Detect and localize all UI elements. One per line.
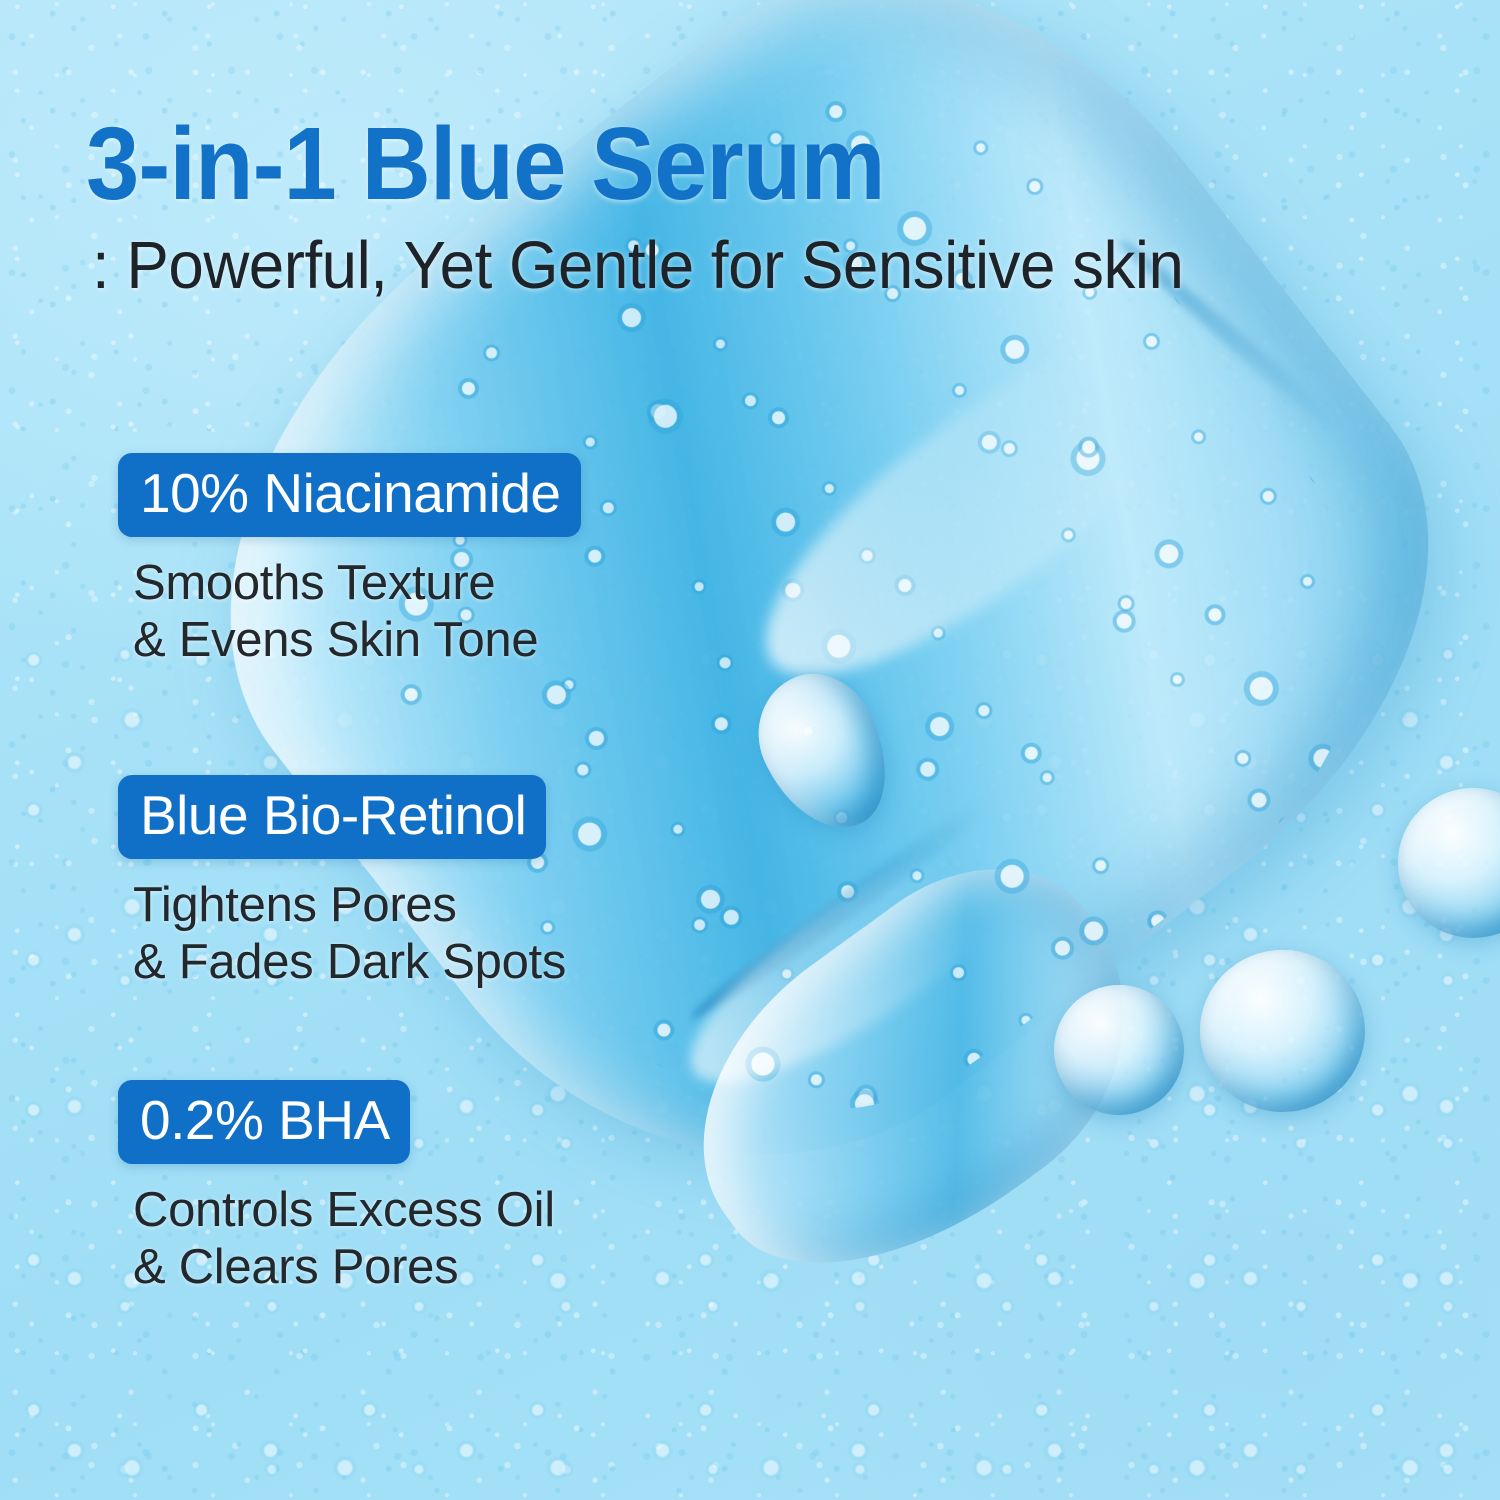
feature-description-bio-retinol: Tightens Pores & Fades Dark Spots [133,877,566,992]
feature-block-niacinamide: 10% Niacinamide Smooths Texture & Evens … [118,453,581,670]
product-infographic: 3-in-1 Blue Serum : Powerful, Yet Gentle… [0,0,1500,1500]
ingredient-badge-niacinamide: 10% Niacinamide [118,453,581,537]
feature-desc-line: Tightens Pores [133,877,566,934]
feature-desc-line: & Fades Dark Spots [133,934,566,991]
gel-bubble-right-upper [1398,788,1500,938]
gel-bubble-bottom-large [1200,950,1365,1112]
feature-desc-line: Smooths Texture [133,555,581,612]
ingredient-badge-bio-retinol: Blue Bio-Retinol [118,775,546,859]
feature-desc-line: & Evens Skin Tone [133,612,581,669]
page-subtitle: : Powerful, Yet Gentle for Sensitive ski… [92,232,1183,299]
feature-block-bha: 0.2% BHA Controls Excess Oil & Clears Po… [118,1080,555,1297]
page-title: 3-in-1 Blue Serum [86,112,885,215]
ingredient-badge-bha: 0.2% BHA [118,1080,410,1164]
feature-desc-line: & Clears Pores [133,1239,555,1296]
feature-description-niacinamide: Smooths Texture & Evens Skin Tone [133,555,581,670]
feature-desc-line: Controls Excess Oil [133,1182,555,1239]
gel-bubble-bottom-small [1054,985,1184,1115]
feature-block-bio-retinol: Blue Bio-Retinol Tightens Pores & Fades … [118,775,566,992]
feature-description-bha: Controls Excess Oil & Clears Pores [133,1182,555,1297]
